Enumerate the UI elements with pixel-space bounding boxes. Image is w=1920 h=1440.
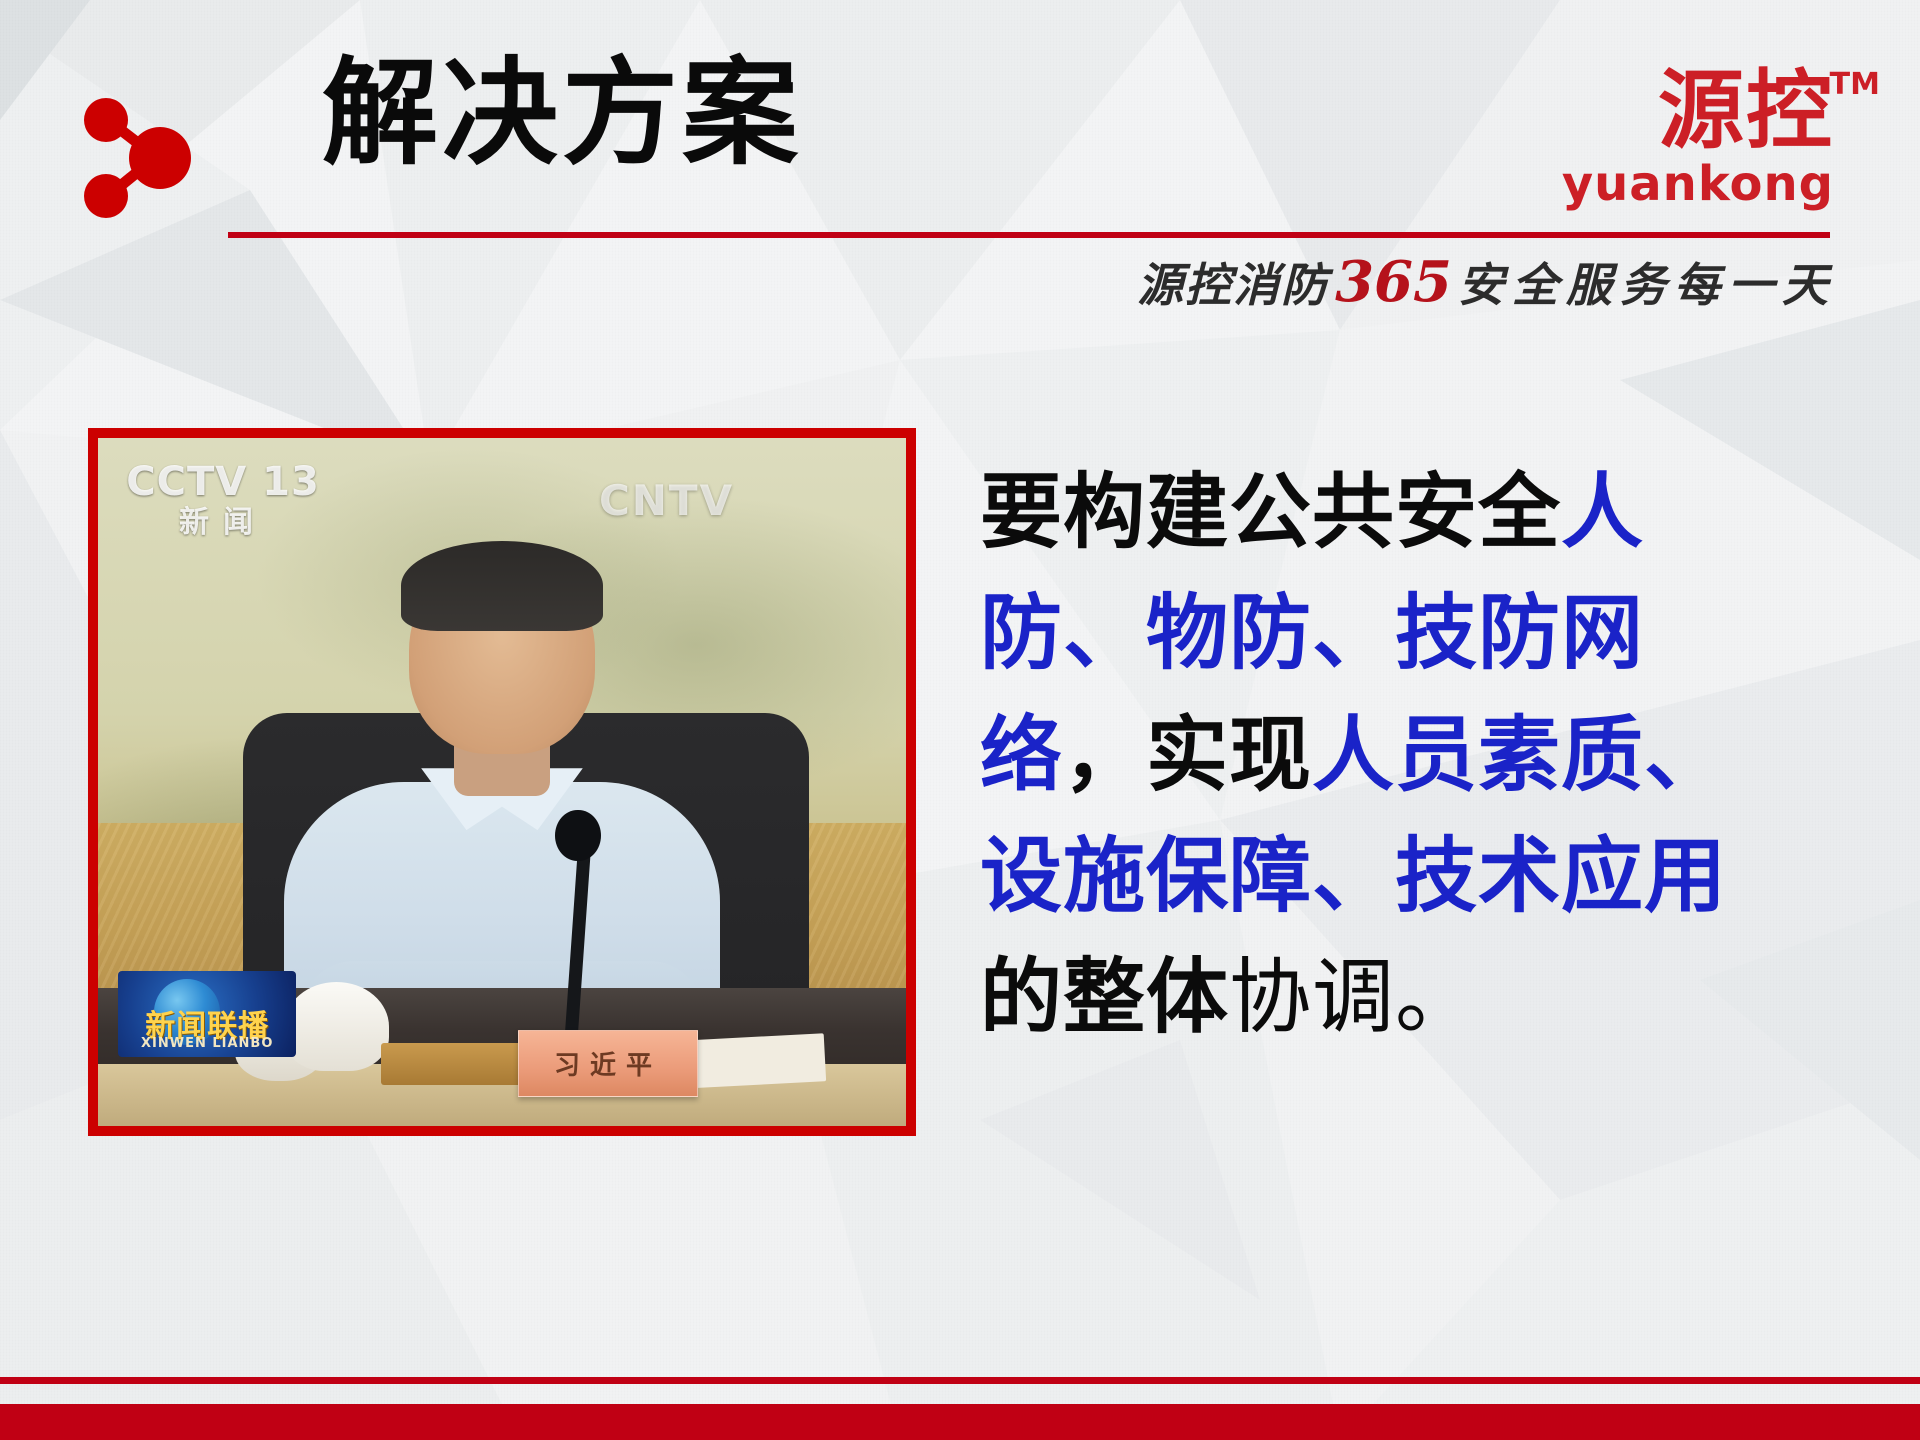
body-run-1: 要构建公共安全 (980, 465, 1561, 560)
cctv-channel-sublabel: 新闻 (126, 508, 320, 538)
desk-nameplate: 习近平 (518, 1030, 698, 1097)
xinwen-lianbo-logo: 新闻联播 XINWEN LIANBO (118, 971, 296, 1057)
microphone-icon (555, 810, 600, 862)
share-network-icon (78, 96, 200, 218)
desk-papers (679, 1033, 827, 1089)
page-title: 解决方案 (322, 56, 802, 172)
brand-tagline: 源控消防365安全服务每一天 (1137, 254, 1836, 310)
news-photo: 习近平 CCTV 13 新闻 CNTV 新闻联播 XINWEN LIANBO (98, 438, 906, 1126)
slide-canvas: 解决方案 源控 TM yuankong 源控消防365安全服务每一天 (0, 0, 1920, 1440)
person-hair (401, 541, 603, 630)
footer-bar (0, 1404, 1920, 1440)
cctv-channel-label: CCTV 13 (126, 459, 320, 505)
photo-frame: 习近平 CCTV 13 新闻 CNTV 新闻联播 XINWEN LIANBO (88, 428, 916, 1136)
tagline-trail: 安全服务每一天 (1458, 258, 1836, 312)
trademark-icon: TM (1830, 70, 1880, 100)
logo-mark-cn: 源控 TM (1658, 68, 1834, 154)
title-underline-rule (228, 232, 1830, 238)
body-run-5: 的整体 (980, 950, 1229, 1045)
body-run-3: ，实现 (1063, 708, 1312, 803)
tagline-lead: 源控消防 (1137, 258, 1329, 312)
body-run-6: 协调。 (1229, 950, 1478, 1045)
body-paragraph: 要构建公共安全人防、物防、技防网络，实现人员素质、设施保障、技术应用的整体协调。 (980, 452, 1800, 1059)
slide-header: 解决方案 源控 TM yuankong 源控消防365安全服务每一天 (0, 0, 1920, 320)
logo-mark-text: 源控 (1658, 61, 1834, 161)
cntv-watermark: CNTV (599, 476, 734, 525)
xinwen-lianbo-pinyin: XINWEN LIANBO (118, 1036, 296, 1051)
nameplate-text: 习近平 (554, 1045, 662, 1082)
tagline-number: 365 (1329, 249, 1458, 315)
cctv-channel-watermark: CCTV 13 新闻 (126, 462, 320, 538)
footer-thin-rule (0, 1377, 1920, 1384)
brand-logo[interactable]: 源控 TM yuankong (1562, 68, 1834, 208)
desk-teapot (284, 982, 389, 1071)
logo-pinyin: yuankong (1562, 160, 1834, 208)
